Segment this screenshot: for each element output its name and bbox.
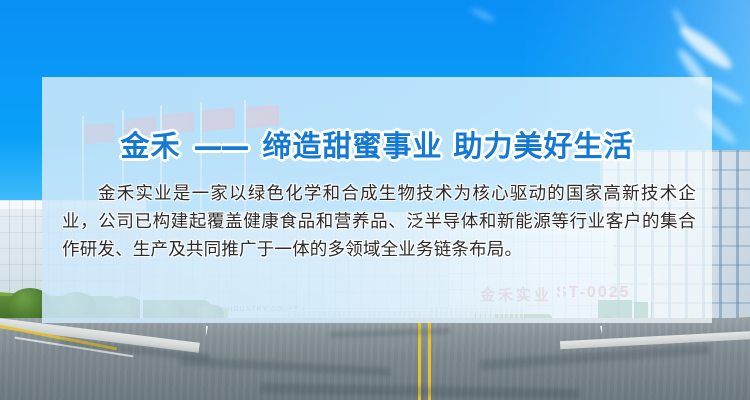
- page-title: 金禾——缔造甜蜜事业助力美好生活: [42, 123, 712, 165]
- title-slogan-a: 缔造甜蜜事业: [260, 129, 442, 163]
- title-brand: 金禾: [120, 129, 180, 163]
- title-dash: ——: [191, 129, 249, 163]
- promo-banner: 金禾实业 ST-0025 JINHE INDUSTRY CO.,LTD: [0, 0, 750, 400]
- company-description-paragraph: 金禾实业是一家以绿色化学和合成生物技术为核心驱动的国家高新技术企业，公司已构建起…: [62, 180, 696, 264]
- title-slogan-b: 助力美好生活: [454, 129, 634, 163]
